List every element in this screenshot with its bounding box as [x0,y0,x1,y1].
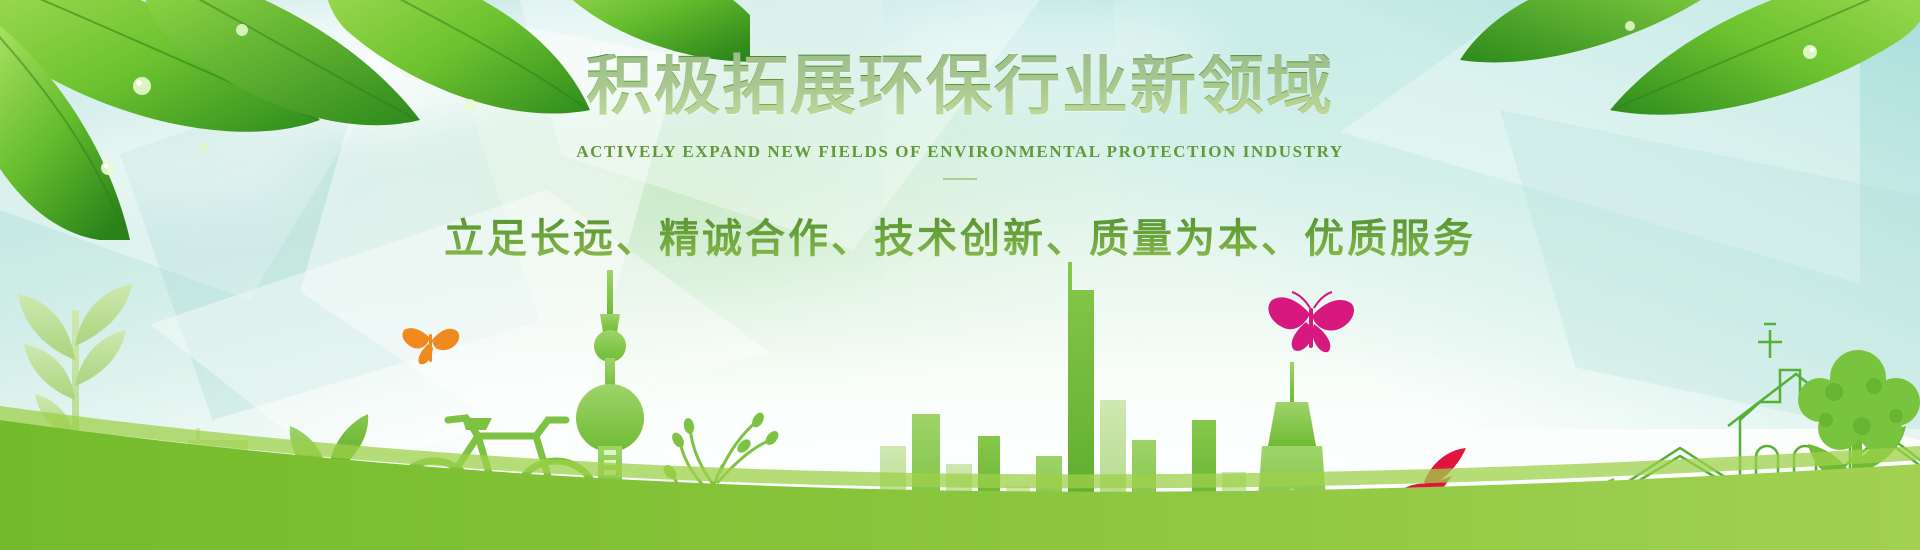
eco-banner: 积极拓展环保行业新领域 ACTIVELY EXPAND NEW FIELDS O… [0,0,1920,550]
wave-band-icon [0,380,1920,550]
divider [943,178,977,180]
butterfly-icon [1268,292,1354,352]
butterfly-icon [402,328,459,364]
banner-text-block: 积极拓展环保行业新领域 ACTIVELY EXPAND NEW FIELDS O… [0,54,1920,264]
page-title: 积极拓展环保行业新领域 [0,54,1920,120]
page-subtitle: ACTIVELY EXPAND NEW FIELDS OF ENVIRONMEN… [0,142,1920,162]
page-tagline: 立足长远、精诚合作、技术创新、质量为本、优质服务 [0,206,1920,264]
